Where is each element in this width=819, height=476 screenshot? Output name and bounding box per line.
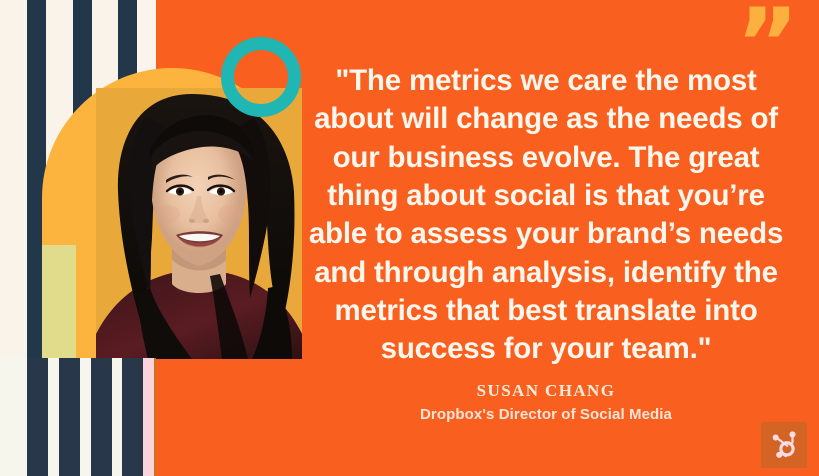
gold-stripe xyxy=(154,358,156,476)
teal-circle-outline xyxy=(221,37,301,117)
quote-card: ” "The metrics we care the most about wi… xyxy=(0,0,819,476)
author-name: SUSAN CHANG xyxy=(300,380,792,402)
portrait-photo xyxy=(96,88,302,359)
arch-tint-left xyxy=(42,245,76,359)
lower-stripe-2 xyxy=(59,358,80,476)
quote-text: "The metrics we care the most about will… xyxy=(300,62,792,369)
lower-stripe-1 xyxy=(27,358,48,476)
author-role: Dropbox's Director of Social Media xyxy=(300,405,792,425)
lower-stripe-4 xyxy=(122,358,143,476)
lower-stripe-3 xyxy=(91,358,112,476)
hubspot-sprocket-logo xyxy=(761,422,807,468)
attribution: SUSAN CHANG Dropbox's Director of Social… xyxy=(300,380,792,425)
quote-block: "The metrics we care the most about will… xyxy=(300,62,792,369)
stripe-panel-lower xyxy=(0,358,156,476)
pink-stripe xyxy=(143,358,154,476)
